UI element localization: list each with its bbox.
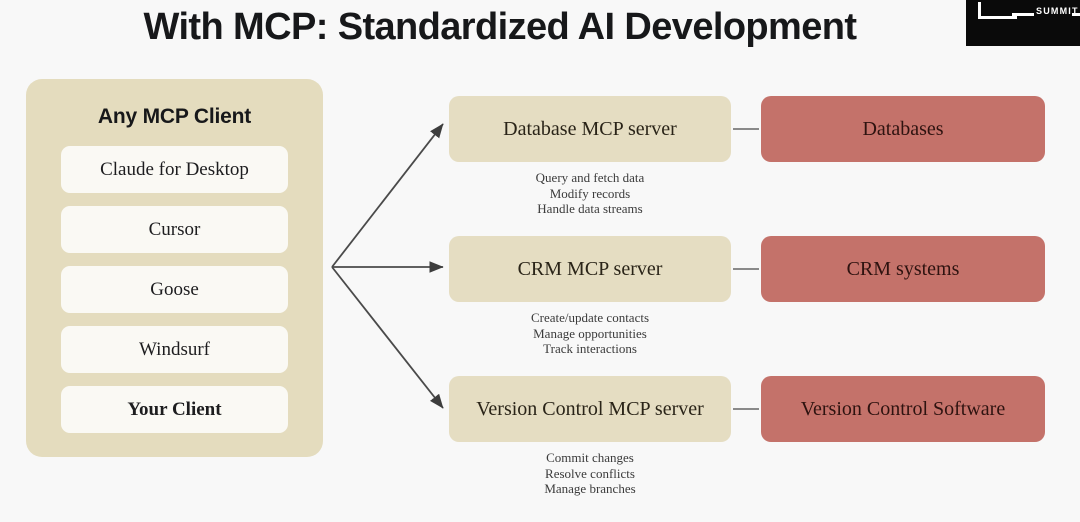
server-box-crm[interactable]: CRM MCP server — [449, 236, 731, 302]
arrow-to-version-control-server — [332, 267, 443, 408]
capabilities-crm: Create/update contactsManage opportuniti… — [449, 310, 731, 357]
list-item[interactable]: Goose — [61, 266, 288, 313]
connector-line-database — [733, 128, 759, 130]
list-item[interactable]: Windsurf — [61, 326, 288, 373]
arrow-to-database-server — [332, 124, 443, 267]
client-panel: Any MCP Client Claude for Desktop Cursor… — [26, 79, 323, 457]
list-item-your-client[interactable]: Your Client — [61, 386, 288, 433]
slide-canvas: With MCP: Standardized AI Development SU… — [0, 0, 1080, 522]
target-box-version-control-software[interactable]: Version Control Software — [761, 376, 1045, 442]
list-item[interactable]: Cursor — [61, 206, 288, 253]
bracket-icon — [978, 2, 1017, 19]
list-item[interactable]: Claude for Desktop — [61, 146, 288, 193]
capabilities-version-control: Commit changesResolve conflictsManage br… — [449, 450, 731, 497]
capabilities-database: Query and fetch dataModify recordsHandle… — [449, 170, 731, 217]
summit-watermark-logo: SUMMIT — [966, 0, 1080, 46]
client-panel-title: Any MCP Client — [26, 105, 323, 129]
rule-right-divider — [1072, 13, 1080, 16]
target-box-crm-systems[interactable]: CRM systems — [761, 236, 1045, 302]
connector-line-version-control — [733, 408, 759, 410]
server-box-database[interactable]: Database MCP server — [449, 96, 731, 162]
client-list: Claude for Desktop Cursor Goose Windsurf… — [61, 146, 288, 446]
target-box-databases[interactable]: Databases — [761, 96, 1045, 162]
server-box-version-control[interactable]: Version Control MCP server — [449, 376, 731, 442]
connector-line-crm — [733, 268, 759, 270]
page-title: With MCP: Standardized AI Development — [0, 6, 1000, 49]
rule-left-divider — [1012, 13, 1034, 16]
